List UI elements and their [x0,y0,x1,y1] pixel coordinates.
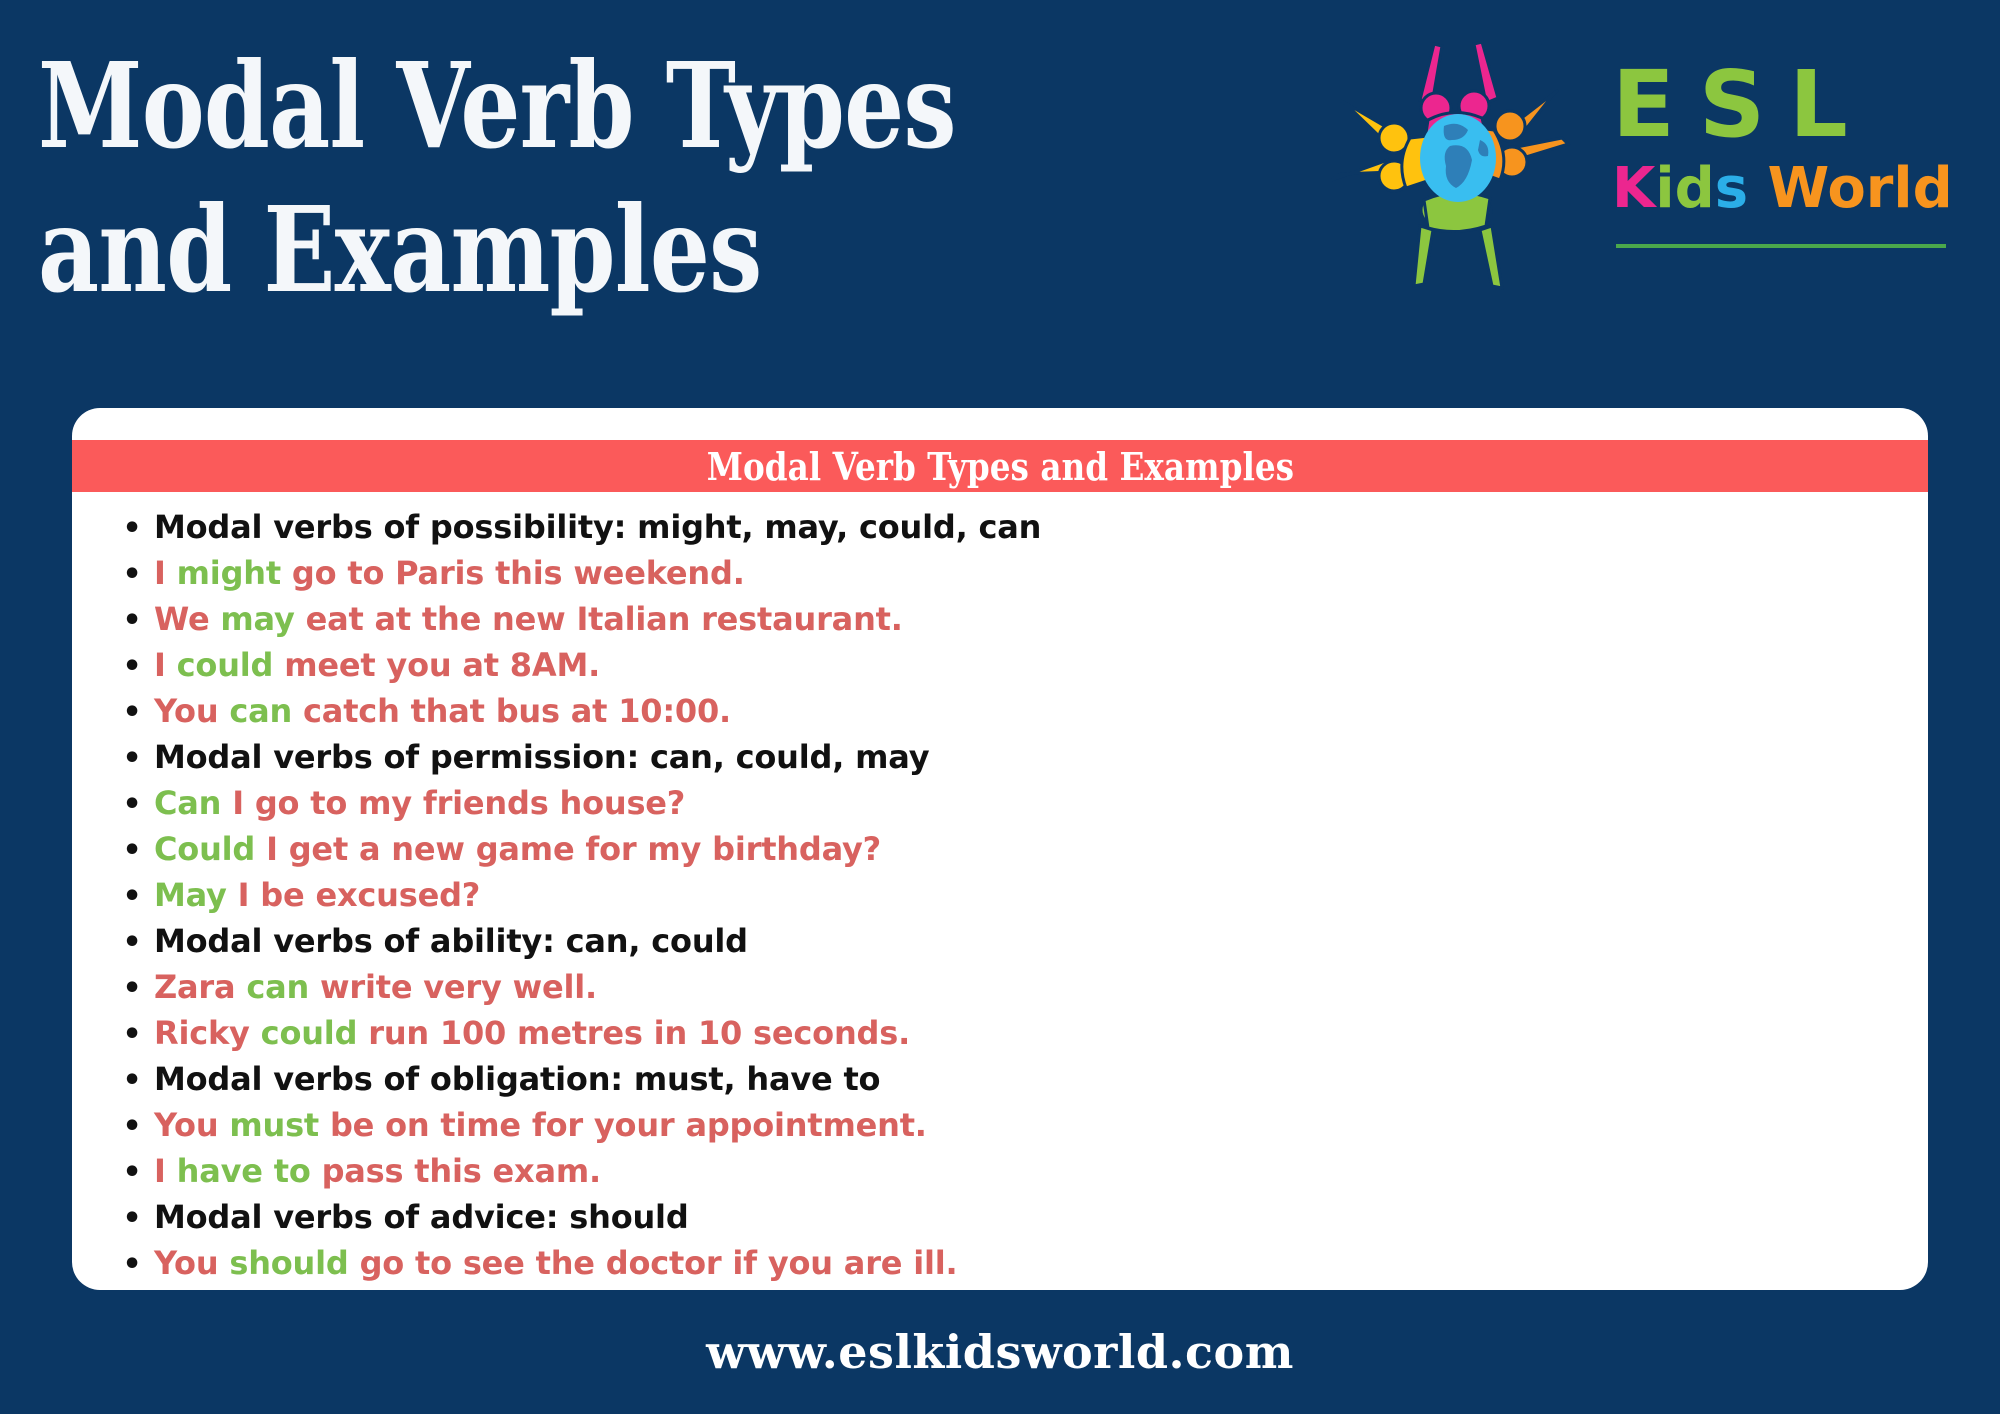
modal-verb-highlight: might [177,554,281,592]
bullet-icon: • [110,598,154,644]
category-list-item: •Modal verbs of permission: can, could, … [110,734,1928,780]
page-title: Modal Verb Types and Examples [38,34,982,322]
list-item-text: I could meet you at 8AM. [154,642,600,688]
page-footer: www.eslkidsworld.com [0,1290,2000,1414]
modal-verb-highlight: may [220,600,294,638]
logo-kids-world-text: Kids World [1612,158,1944,220]
list-item-text: Modal verbs of advice: should [154,1194,689,1240]
modal-verb-highlight: could [261,1014,358,1052]
list-item-text: Modal verbs of ability: can, could [154,918,748,964]
list-item-text: May I be excused? [154,872,480,918]
bullet-icon: • [110,736,154,782]
bullet-icon: • [110,782,154,828]
list-item-text: Can I go to my friends house? [154,780,685,826]
bullet-icon: • [110,920,154,966]
bullet-icon: • [110,1242,154,1288]
list-item-text: Modal verbs of obligation: must, have to [154,1056,880,1102]
example-list-item: •Zara can write very well. [110,964,1928,1010]
bullet-icon: • [110,1150,154,1196]
logo-underline [1616,244,1946,248]
bullet-icon: • [110,874,154,920]
modal-verb-highlight: Could [154,830,255,868]
list-item-text: Ricky could run 100 metres in 10 seconds… [154,1010,910,1056]
example-list-item: •You should go to see the doctor if you … [110,1240,1928,1286]
bullet-icon: • [110,828,154,874]
modal-verb-highlight: should [229,1244,348,1282]
list-item-text: You must be on time for your appointment… [154,1102,927,1148]
list-item-text: I have to pass this exam. [154,1148,601,1194]
card-header-title: Modal Verb Types and Examples [706,444,1293,489]
esl-kids-world-logo: ESL Kids World [1324,30,1944,290]
bullet-icon: • [110,1196,154,1242]
category-list-item: •Modal verbs of obligation: must, have t… [110,1056,1928,1102]
list-item-text: Zara can write very well. [154,964,597,1010]
example-list-item: •Ricky could run 100 metres in 10 second… [110,1010,1928,1056]
bullet-icon: • [110,966,154,1012]
list-item-text: Modal verbs of permission: can, could, m… [154,734,929,780]
example-list-item: •You can catch that bus at 10:00. [110,688,1928,734]
bullet-icon: • [110,1012,154,1058]
modal-verb-highlight: must [229,1106,319,1144]
example-list-item: •I might go to Paris this weekend. [110,550,1928,596]
category-list-item: •Modal verbs of ability: can, could [110,918,1928,964]
content-card: Modal Verb Types and Examples •Modal ver… [72,408,1928,1290]
website-url: www.eslkidsworld.com [706,1325,1294,1379]
page-header: Modal Verb Types and Examples [0,0,2000,408]
card-header-bar: Modal Verb Types and Examples [72,440,1928,492]
example-list-item: •We may eat at the new Italian restauran… [110,596,1928,642]
list-item-text: I might go to Paris this weekend. [154,550,745,596]
bullet-icon: • [110,1058,154,1104]
bullet-icon: • [110,506,154,552]
list-item-text: You should go to see the doctor if you a… [154,1240,957,1286]
bullet-icon: • [110,1104,154,1150]
modal-verb-highlight: Can [154,784,221,822]
modal-verb-highlight: May [154,876,227,914]
bullet-icon: • [110,552,154,598]
example-list-item: •You must be on time for your appointmen… [110,1102,1928,1148]
list-item-text: We may eat at the new Italian restaurant… [154,596,903,642]
modal-verb-highlight: have to [177,1152,311,1190]
list-item-text: You can catch that bus at 10:00. [154,688,731,734]
example-list-item: •Can I go to my friends house? [110,780,1928,826]
example-list-item: •Could I get a new game for my birthday? [110,826,1928,872]
children-around-globe-icon [1324,34,1594,290]
bullet-icon: • [110,690,154,736]
bullet-icon: • [110,644,154,690]
modal-verb-highlight: can [229,692,292,730]
category-list-item: •Modal verbs of possibility: might, may,… [110,504,1928,550]
modal-verb-highlight: could [177,646,274,684]
category-list-item: •Modal verbs of advice: should [110,1194,1928,1240]
example-list-item: •I have to pass this exam. [110,1148,1928,1194]
logo-wordmark: ESL Kids World [1612,58,1944,219]
example-list-item: •May I be excused? [110,872,1928,918]
list-item-text: Could I get a new game for my birthday? [154,826,881,872]
modal-verb-list: •Modal verbs of possibility: might, may,… [72,504,1928,1286]
example-list-item: •I could meet you at 8AM. [110,642,1928,688]
modal-verb-highlight: can [246,968,309,1006]
list-item-text: Modal verbs of possibility: might, may, … [154,504,1041,550]
logo-esl-text: ESL [1612,58,1944,152]
